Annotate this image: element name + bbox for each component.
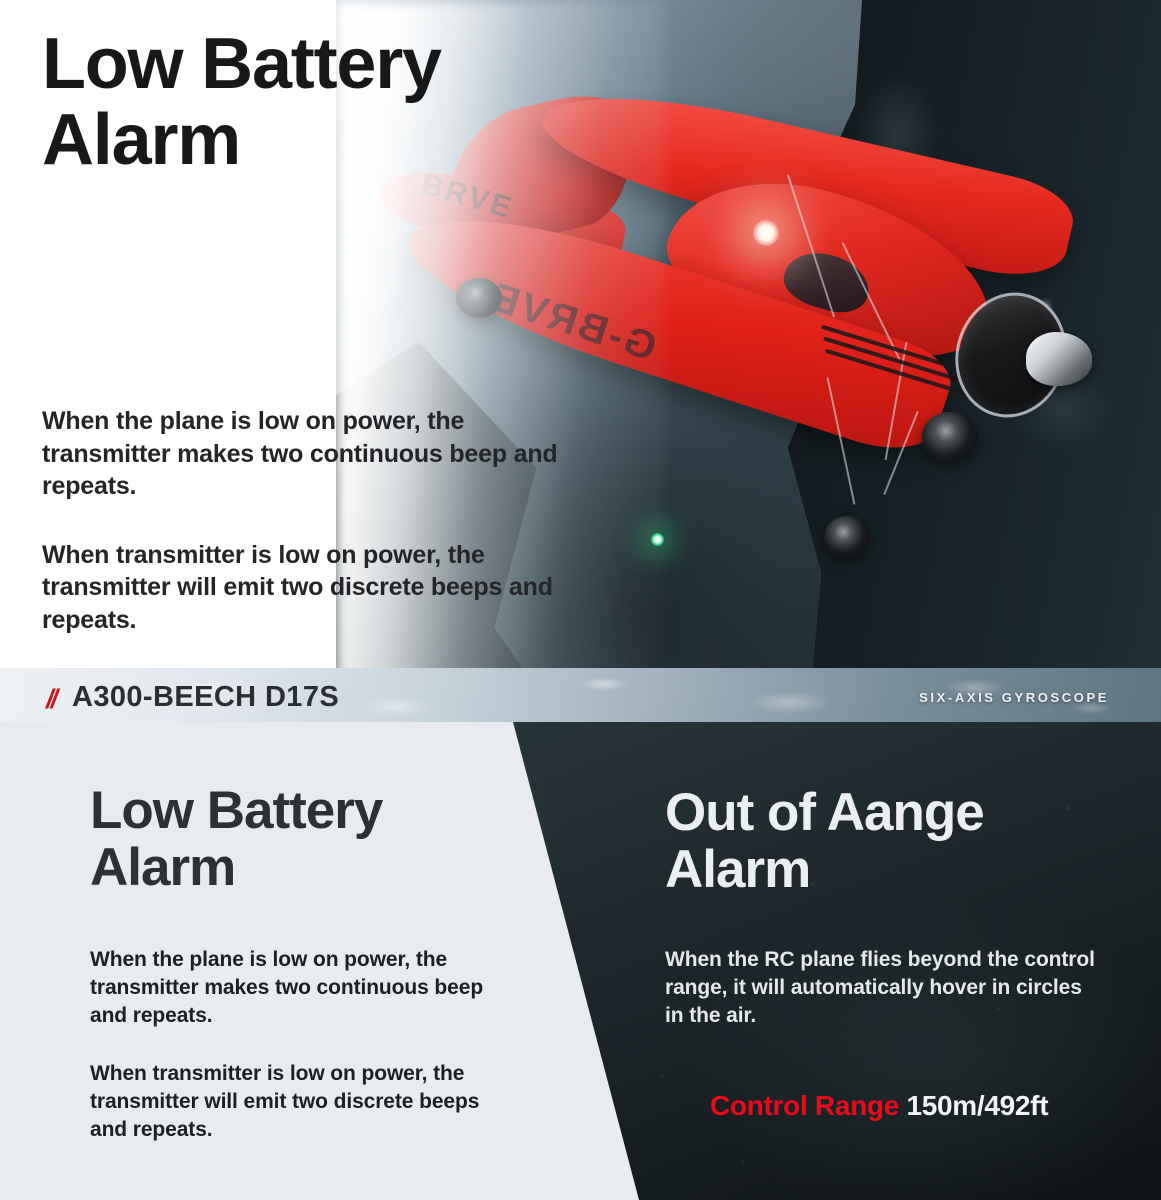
landing-gear-wheel	[922, 412, 978, 462]
bottom-left-title-line-1: Low Battery	[90, 782, 520, 839]
gyroscope-feature-label: SIX-AXIS GYROSCOPE	[919, 690, 1109, 705]
top-body-copy: When the plane is low on power, the tran…	[42, 405, 562, 636]
control-range-spec: Control Range 150m/492ft	[710, 1090, 1048, 1122]
product-name-bar: // A300-BEECH D17S SIX-AXIS GYROSCOPE	[0, 668, 1161, 722]
top-page-title: Low Battery Alarm	[42, 26, 562, 179]
top-title-line-1: Low Battery	[42, 26, 562, 102]
bottom-right-paragraph: When the RC plane flies beyond the contr…	[665, 946, 1105, 1030]
bottom-right-title: Out of Aange Alarm	[665, 784, 1105, 898]
product-model-name: A300-BEECH D17S	[72, 681, 339, 714]
top-section: BRVE G-BRVE Low Battery Ala	[0, 0, 1161, 722]
lens-flare-icon	[753, 220, 779, 246]
bottom-right-title-line-1: Out of Aange	[665, 784, 1105, 841]
top-paragraph-1: When the plane is low on power, the tran…	[42, 405, 562, 503]
bottom-left-paragraph-1: When the plane is low on power, the tran…	[90, 946, 510, 1030]
bottom-right-body-copy: When the RC plane flies beyond the contr…	[665, 946, 1105, 1030]
propeller-spinner	[1026, 332, 1092, 386]
bottom-section: Low Battery Alarm When the plane is low …	[0, 722, 1161, 1200]
top-title-line-2: Alarm	[42, 102, 562, 178]
bottom-left-paragraph-2: When transmitter is low on power, the tr…	[90, 1060, 510, 1144]
top-paragraph-2: When transmitter is low on power, the tr…	[42, 539, 562, 637]
bottom-right-title-line-2: Alarm	[665, 841, 1105, 898]
bottom-left-title-line-2: Alarm	[90, 839, 520, 896]
bottom-left-title: Low Battery Alarm	[90, 782, 520, 896]
double-slash-icon: //	[46, 684, 55, 715]
bottom-left-body-copy: When the plane is low on power, the tran…	[90, 946, 510, 1144]
landing-gear-wheel	[824, 516, 870, 558]
control-range-label: Control Range	[710, 1090, 899, 1121]
control-range-value: 150m/492ft	[906, 1090, 1048, 1121]
